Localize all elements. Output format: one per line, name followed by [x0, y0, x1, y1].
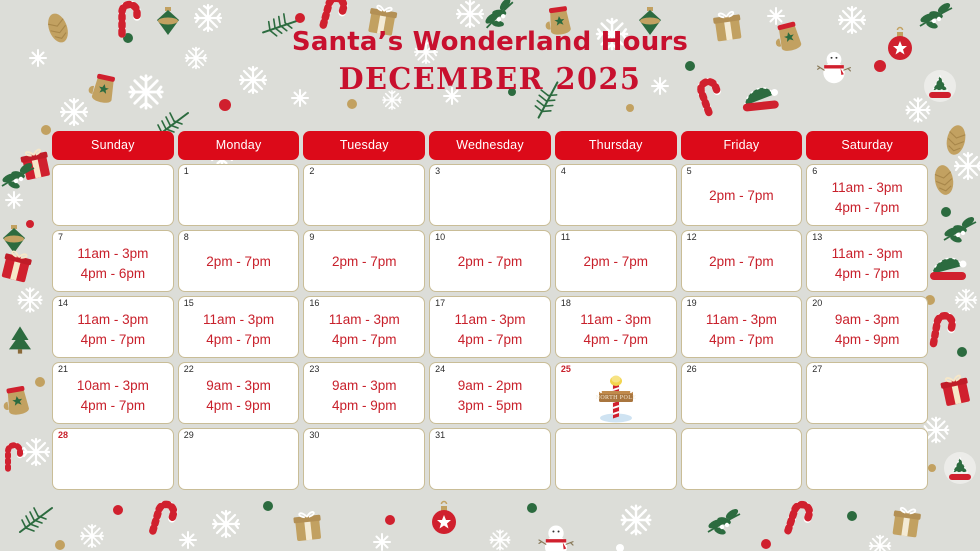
calendar-day-29[interactable]: 29 [178, 428, 300, 490]
calendar-day-8[interactable]: 82pm - 7pm [178, 230, 300, 292]
calendar-day-blank[interactable] [52, 164, 174, 226]
calendar-day-17[interactable]: 1711am - 3pm4pm - 7pm [429, 296, 551, 358]
hours-text: 9am - 2pm3pm - 5pm [430, 375, 550, 415]
date-number: 2 [309, 167, 314, 176]
hours-line-1: 2pm - 7pm [684, 186, 800, 206]
day-header-row: SundayMondayTuesdayWednesdayThursdayFrid… [52, 131, 928, 160]
hours-text: 11am - 3pm4pm - 7pm [53, 309, 173, 349]
hours-text: 9am - 3pm4pm - 9pm [807, 309, 927, 349]
day-header-monday: Monday [178, 131, 300, 160]
date-number: 6 [812, 167, 817, 176]
hours-text: 11am - 3pm4pm - 7pm [430, 309, 550, 349]
date-number: 11 [561, 233, 570, 242]
hours-line-1: 11am - 3pm [306, 310, 422, 330]
hours-line-1: 11am - 3pm [432, 310, 548, 330]
date-number: 12 [687, 233, 697, 242]
hours-text: 9am - 3pm4pm - 9pm [179, 375, 299, 415]
hours-line-1: 9am - 3pm [809, 310, 925, 330]
hours-line-1: 11am - 3pm [809, 244, 925, 264]
hours-line-1: 11am - 3pm [809, 178, 925, 198]
date-number: 27 [812, 365, 822, 374]
day-header-friday: Friday [681, 131, 803, 160]
hours-text: 10am - 3pm4pm - 7pm [53, 375, 173, 415]
calendar-weeks: 123452pm - 7pm611am - 3pm4pm - 7pm711am … [52, 164, 928, 490]
hours-line-2: 4pm - 7pm [809, 198, 925, 218]
date-number: 13 [812, 233, 822, 242]
date-number: 1 [184, 167, 189, 176]
calendar-day-4[interactable]: 4 [555, 164, 677, 226]
hours-line-2: 4pm - 7pm [55, 330, 171, 350]
calendar-day-30[interactable]: 30 [303, 428, 425, 490]
calendar-week-row: 1411am - 3pm4pm - 7pm1511am - 3pm4pm - 7… [52, 296, 928, 358]
hours-line-1: 2pm - 7pm [181, 252, 297, 272]
calendar-day-20[interactable]: 209am - 3pm4pm - 9pm [806, 296, 928, 358]
date-number: 29 [184, 431, 194, 440]
hours-line-2: 4pm - 7pm [558, 330, 674, 350]
date-number: 25 [561, 365, 571, 374]
calendar-day-9[interactable]: 92pm - 7pm [303, 230, 425, 292]
calendar-day-6[interactable]: 611am - 3pm4pm - 7pm [806, 164, 928, 226]
calendar-grid: SundayMondayTuesdayWednesdayThursdayFrid… [52, 131, 928, 490]
day-header-tuesday: Tuesday [303, 131, 425, 160]
date-number: 15 [184, 299, 194, 308]
hours-line-2: 4pm - 7pm [809, 264, 925, 284]
calendar-day-25[interactable]: 25NORTH POLE [555, 362, 677, 424]
date-number: 31 [435, 431, 445, 440]
hours-line-1: 10am - 3pm [55, 376, 171, 396]
hours-line-1: 11am - 3pm [684, 310, 800, 330]
calendar-day-14[interactable]: 1411am - 3pm4pm - 7pm [52, 296, 174, 358]
hours-text: 9am - 3pm4pm - 9pm [304, 375, 424, 415]
calendar-day-27[interactable]: 27 [806, 362, 928, 424]
day-header-thursday: Thursday [555, 131, 677, 160]
calendar-day-10[interactable]: 102pm - 7pm [429, 230, 551, 292]
calendar-day-blank[interactable] [681, 428, 803, 490]
calendar-day-5[interactable]: 52pm - 7pm [681, 164, 803, 226]
calendar-day-31[interactable]: 31 [429, 428, 551, 490]
date-number: 18 [561, 299, 571, 308]
date-number: 7 [58, 233, 63, 242]
hours-line-2: 4pm - 7pm [306, 330, 422, 350]
hours-line-2: 4pm - 7pm [55, 396, 171, 416]
page-header: Santa’s Wonderland Hours DECEMBER 2025 [0, 0, 980, 97]
calendar-week-row: 123452pm - 7pm611am - 3pm4pm - 7pm [52, 164, 928, 226]
calendar-day-24[interactable]: 249am - 2pm3pm - 5pm [429, 362, 551, 424]
calendar-day-blank[interactable] [555, 428, 677, 490]
calendar-day-12[interactable]: 122pm - 7pm [681, 230, 803, 292]
calendar-day-23[interactable]: 239am - 3pm4pm - 9pm [303, 362, 425, 424]
hours-line-1: 11am - 3pm [55, 244, 171, 264]
hours-line-2: 4pm - 9pm [306, 396, 422, 416]
date-number: 28 [58, 431, 68, 440]
date-number: 19 [687, 299, 697, 308]
hours-line-1: 11am - 3pm [181, 310, 297, 330]
page-subtitle-month: DECEMBER 2025 [20, 62, 961, 97]
calendar-week-row: 711am - 3pm4pm - 6pm82pm - 7pm92pm - 7pm… [52, 230, 928, 292]
hours-text: 2pm - 7pm [682, 243, 802, 272]
date-number: 20 [812, 299, 822, 308]
hours-line-2: 4pm - 7pm [684, 330, 800, 350]
calendar-page: Santa’s Wonderland Hours DECEMBER 2025 S… [0, 0, 980, 551]
date-number: 24 [435, 365, 445, 374]
hours-line-1: 11am - 3pm [558, 310, 674, 330]
hours-text: 11am - 3pm4pm - 6pm [53, 243, 173, 283]
calendar-day-21[interactable]: 2110am - 3pm4pm - 7pm [52, 362, 174, 424]
day-header-sunday: Sunday [52, 131, 174, 160]
day-header-saturday: Saturday [806, 131, 928, 160]
calendar-day-26[interactable]: 26 [681, 362, 803, 424]
hours-text: 11am - 3pm4pm - 7pm [807, 177, 927, 217]
hours-text: 2pm - 7pm [430, 243, 550, 272]
date-number: 5 [687, 167, 692, 176]
hours-line-1: 11am - 3pm [55, 310, 171, 330]
hours-line-2: 3pm - 5pm [432, 396, 548, 416]
calendar-week-row: 2110am - 3pm4pm - 7pm229am - 3pm4pm - 9p… [52, 362, 928, 424]
date-number: 26 [687, 365, 697, 374]
date-number: 30 [309, 431, 319, 440]
calendar-day-15[interactable]: 1511am - 3pm4pm - 7pm [178, 296, 300, 358]
calendar-day-3[interactable]: 3 [429, 164, 551, 226]
calendar-day-2[interactable]: 2 [303, 164, 425, 226]
calendar-day-7[interactable]: 711am - 3pm4pm - 6pm [52, 230, 174, 292]
calendar-day-28[interactable]: 28 [52, 428, 174, 490]
calendar-day-1[interactable]: 1 [178, 164, 300, 226]
day-header-wednesday: Wednesday [429, 131, 551, 160]
date-number: 3 [435, 167, 440, 176]
date-number: 14 [58, 299, 68, 308]
hours-text: 11am - 3pm4pm - 7pm [304, 309, 424, 349]
hours-text: 2pm - 7pm [179, 243, 299, 272]
hours-text: 11am - 3pm4pm - 7pm [807, 243, 927, 283]
calendar-week-row: 28293031 [52, 428, 928, 490]
hours-line-2: 4pm - 6pm [55, 264, 171, 284]
date-number: 9 [309, 233, 314, 242]
calendar-day-19[interactable]: 1911am - 3pm4pm - 7pm [681, 296, 803, 358]
hours-line-2: 4pm - 9pm [809, 330, 925, 350]
hours-line-1: 9am - 2pm [432, 376, 548, 396]
hours-line-1: 9am - 3pm [181, 376, 297, 396]
north-pole-sign-icon: NORTH POLE [593, 375, 639, 423]
hours-line-1: 2pm - 7pm [432, 252, 548, 272]
date-number: 22 [184, 365, 194, 374]
calendar-day-blank[interactable] [806, 428, 928, 490]
calendar-day-22[interactable]: 229am - 3pm4pm - 9pm [178, 362, 300, 424]
hours-line-1: 9am - 3pm [306, 376, 422, 396]
hours-text: 2pm - 7pm [304, 243, 424, 272]
hours-line-1: 2pm - 7pm [684, 252, 800, 272]
hours-line-2: 4pm - 9pm [181, 396, 297, 416]
date-number: 16 [309, 299, 319, 308]
calendar-day-18[interactable]: 1811am - 3pm4pm - 7pm [555, 296, 677, 358]
hours-line-1: 2pm - 7pm [558, 252, 674, 272]
hours-text: 11am - 3pm4pm - 7pm [179, 309, 299, 349]
date-number: 4 [561, 167, 566, 176]
date-number: 8 [184, 233, 189, 242]
date-number: 23 [309, 365, 319, 374]
hours-line-2: 4pm - 7pm [181, 330, 297, 350]
calendar-day-13[interactable]: 1311am - 3pm4pm - 7pm [806, 230, 928, 292]
date-number: 10 [435, 233, 445, 242]
hours-line-1: 2pm - 7pm [306, 252, 422, 272]
page-title: Santa’s Wonderland Hours [0, 28, 980, 58]
date-number: 17 [435, 299, 445, 308]
date-number: 21 [58, 365, 68, 374]
hours-line-2: 4pm - 7pm [432, 330, 548, 350]
hours-text: 11am - 3pm4pm - 7pm [556, 309, 676, 349]
calendar-day-11[interactable]: 112pm - 7pm [555, 230, 677, 292]
hours-text: 2pm - 7pm [556, 243, 676, 272]
north-pole-sign: NORTH POLE [556, 375, 676, 423]
hours-text: 11am - 3pm4pm - 7pm [682, 309, 802, 349]
calendar-day-16[interactable]: 1611am - 3pm4pm - 7pm [303, 296, 425, 358]
hours-text: 2pm - 7pm [682, 177, 802, 206]
svg-text:NORTH POLE: NORTH POLE [595, 395, 636, 401]
